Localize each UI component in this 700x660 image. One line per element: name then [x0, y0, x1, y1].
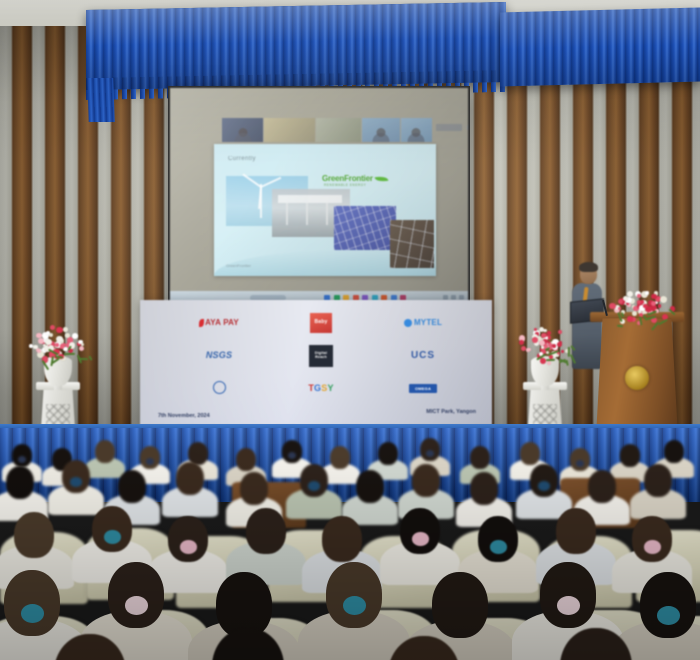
mcrb-circle-icon	[213, 381, 226, 394]
flower-bloom	[56, 327, 63, 334]
audience-head	[95, 440, 115, 463]
foliage-leaf	[639, 316, 642, 326]
audience-head	[118, 470, 146, 503]
flower-bloom	[539, 327, 544, 332]
flower-bloom	[547, 331, 551, 335]
hair-accessory	[644, 540, 661, 554]
valance-highlight	[86, 2, 506, 90]
audience-head	[176, 462, 204, 495]
flower-bloom	[36, 333, 42, 339]
flower-bloom	[561, 350, 564, 353]
event-date: 7th November, 2024	[158, 413, 210, 419]
audience-head	[322, 516, 362, 562]
event-venue: MICT Park, Yangon	[426, 409, 476, 415]
audience-head	[556, 508, 596, 554]
audience-head	[356, 470, 384, 503]
flower-bloom	[63, 327, 68, 332]
audience-head	[664, 440, 684, 463]
audience-head	[412, 464, 440, 497]
flower-bloom	[81, 343, 84, 346]
flower-bloom	[519, 340, 524, 345]
flower-bloom	[645, 291, 648, 294]
greenfrontier-tagline: RENEWABLE ENERGY	[324, 183, 366, 187]
vc-tile-solar-field	[316, 118, 361, 142]
flower-bouquet	[28, 328, 88, 364]
vc-participant-label	[436, 124, 462, 131]
flower-bloom	[532, 337, 538, 343]
flower-bloom	[79, 346, 84, 351]
flower-bloom	[627, 316, 632, 321]
turbine-blade	[242, 174, 261, 188]
hair-accessory	[104, 530, 121, 544]
vc-avatar-body	[372, 133, 389, 142]
vc-tile-site-photo	[264, 118, 315, 142]
hair-accessory	[18, 456, 26, 463]
audience-head	[470, 472, 498, 505]
solar-array-photo	[334, 206, 396, 250]
flower-bloom	[543, 329, 547, 333]
foliage-leaf	[565, 359, 568, 366]
audience-head	[540, 562, 596, 628]
audience-area	[0, 420, 700, 660]
sponsor-logo-grid: AYA PAY Baby MYTEL NSGS Digital Reach UC…	[140, 300, 492, 425]
audience-head	[6, 466, 34, 499]
conference-hall-photo: Currently GreenFrontier RENEWABLE ENERGY	[0, 0, 700, 660]
sponsor-backdrop-banner: AYA PAY Baby MYTEL NSGS Digital Reach UC…	[140, 300, 492, 425]
sponsor-logo-mytel: MYTEL	[404, 319, 442, 327]
hair-accessory	[180, 540, 197, 554]
sponsor-logo-tgsy: TGSY	[308, 384, 333, 393]
podium-flower-arrangement	[608, 292, 676, 326]
vc-tile-participant-1	[362, 118, 399, 142]
hair-accessory	[146, 458, 154, 465]
station-pole	[326, 203, 328, 225]
hair-accessory	[412, 532, 429, 546]
sponsor-logo-aya-pay: AYA PAY	[199, 319, 239, 327]
flower-bloom	[72, 333, 78, 339]
audience-head	[236, 448, 256, 471]
audience-head	[520, 442, 540, 465]
turbine-blade	[261, 177, 282, 188]
flower-bloom	[46, 331, 50, 335]
flower-bloom	[56, 336, 62, 342]
station-canopy	[278, 195, 342, 203]
hair-accessory	[70, 477, 82, 487]
hair-accessory	[308, 481, 320, 491]
sponsor-logo-ucs: UCS	[411, 351, 435, 361]
hair-accessory	[490, 540, 507, 554]
slide-footer-logo: GreenFrontier	[226, 263, 251, 268]
presentation-slide: Currently GreenFrontier RENEWABLE ENERGY	[214, 144, 436, 276]
flower-bloom	[558, 330, 562, 334]
audience-head	[326, 562, 382, 628]
foliage-leaf	[76, 355, 81, 364]
flower-bloom	[539, 340, 545, 346]
audience-head	[246, 508, 286, 554]
projection-screen: Currently GreenFrontier RENEWABLE ENERGY	[170, 88, 468, 304]
audience-head	[4, 570, 60, 636]
aya-mark-icon	[199, 319, 204, 327]
flower-bloom	[627, 291, 633, 297]
flower-bloom	[637, 294, 641, 298]
flower-bloom	[658, 304, 662, 308]
flower-bloom	[632, 311, 637, 316]
hair-accessory	[538, 481, 550, 491]
presenter-hair	[579, 262, 598, 272]
slide-heading: Currently	[228, 156, 256, 162]
greenfrontier-logo: GreenFrontier	[322, 174, 388, 183]
flower-bloom	[527, 348, 531, 352]
vc-tile-presenter	[222, 118, 263, 142]
hair-accessory	[288, 452, 296, 459]
flower-bloom	[50, 325, 55, 330]
flower-bloom	[60, 344, 64, 348]
mytel-dot-icon	[404, 319, 412, 327]
audience-head	[108, 562, 164, 628]
podium-gold-emblem	[625, 366, 649, 390]
audience-head	[644, 464, 672, 497]
flower-bloom	[643, 304, 647, 308]
flower-bloom	[609, 303, 615, 309]
foliage-leaf	[568, 347, 570, 357]
sponsor-logo-mcrb	[213, 381, 226, 396]
audience-head	[378, 442, 398, 465]
audience-head	[588, 470, 616, 503]
solar-panel-closeup-photo	[390, 220, 434, 268]
vc-avatar-body	[408, 133, 425, 142]
flower-bloom	[557, 342, 562, 347]
audience-head	[620, 444, 640, 467]
flower-bloom	[65, 333, 70, 338]
hair-accessory	[576, 460, 584, 467]
video-conference-strip	[222, 118, 432, 142]
sponsor-logo-nsgs: NSGS	[206, 351, 232, 360]
audience-head	[330, 446, 350, 469]
valance-right-highlight	[500, 8, 700, 87]
flower-bloom	[660, 296, 667, 303]
vc-tile-participant-2	[401, 118, 432, 142]
sponsor-logo-baby: Baby	[310, 313, 332, 333]
audience-head	[640, 572, 696, 638]
sponsor-logo-digital-reach: Digital Reach	[309, 345, 333, 367]
station-pole	[286, 203, 288, 225]
flower-bloom	[618, 307, 621, 310]
curtain-side-drape	[87, 78, 115, 122]
hair-accessory	[426, 450, 434, 457]
leaf-icon	[374, 174, 388, 183]
audience-head	[470, 446, 490, 469]
audience-head	[240, 472, 268, 505]
station-pole	[306, 203, 308, 225]
greenfrontier-wordmark: GreenFrontier	[322, 174, 373, 183]
vc-avatar-body	[234, 133, 251, 142]
flower-bouquet	[515, 328, 575, 364]
foliage-leaf	[570, 345, 575, 351]
audience-head	[14, 512, 54, 558]
audience-head	[432, 572, 488, 638]
sponsor-logo-omega: OMEGA	[409, 384, 437, 393]
